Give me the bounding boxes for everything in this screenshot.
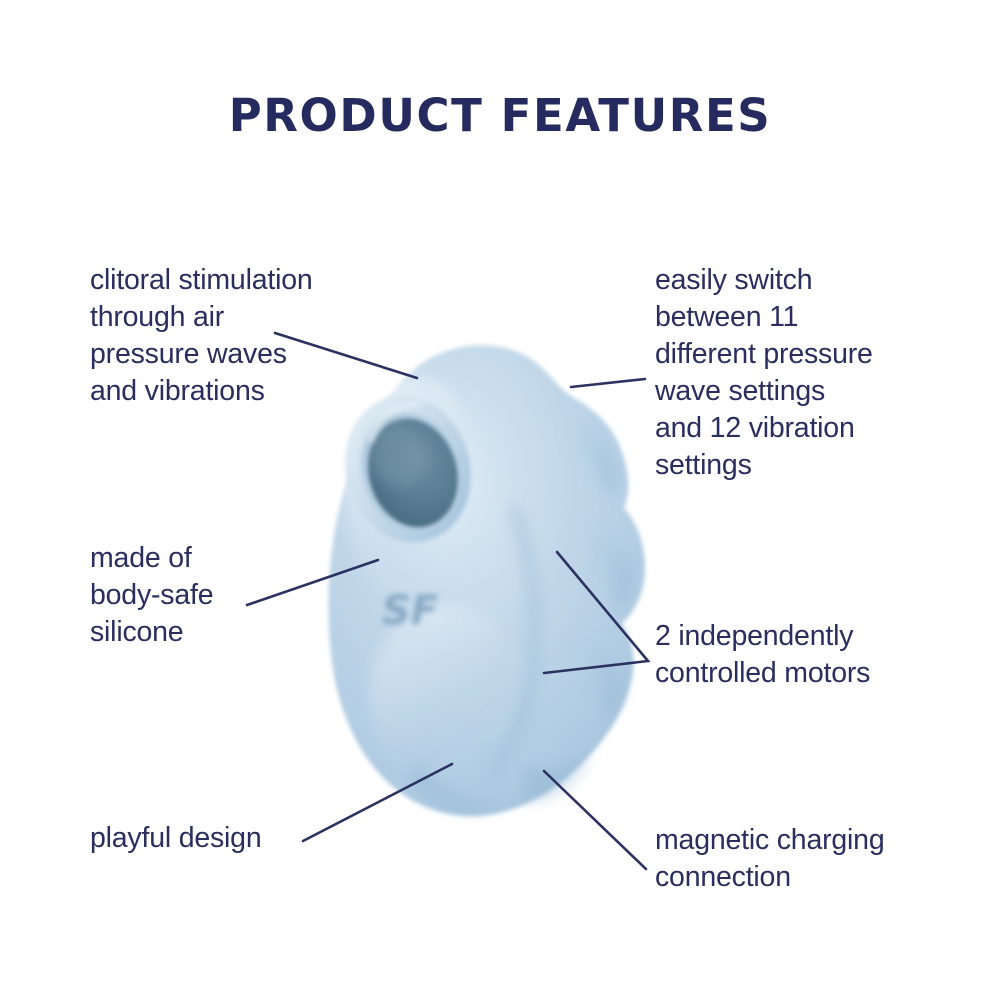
callout-line: body-safe <box>90 577 213 614</box>
callout-line: different pressure <box>655 336 873 373</box>
callout-line: easily switch <box>655 262 873 299</box>
clitoral-stimulation-callout: clitoral stimulation through air pressur… <box>90 262 313 410</box>
callout-line: and vibrations <box>90 373 313 410</box>
independent-motors-callout: 2 independently controlled motors <box>655 618 870 692</box>
callout-line: made of <box>90 540 213 577</box>
callout-line: controlled motors <box>655 655 870 692</box>
callout-line: through air <box>90 299 313 336</box>
playful-design-callout: playful design <box>90 820 261 857</box>
body-safe-silicone-callout: made of body-safe silicone <box>90 540 213 651</box>
callout-line: connection <box>655 859 885 896</box>
product-illustration: SF <box>318 336 663 848</box>
page-title: PRODUCT FEATURES <box>0 92 1000 139</box>
callout-line: magnetic charging <box>655 822 885 859</box>
magnetic-charging-callout: magnetic charging connection <box>655 822 885 896</box>
pressure-wave-settings-callout: easily switch between 11 different press… <box>655 262 873 484</box>
callout-line: 2 independently <box>655 618 870 655</box>
product-features-infographic: PRODUCT FEATURES <box>0 0 1000 1000</box>
callout-line: settings <box>655 447 873 484</box>
callout-line: silicone <box>90 614 213 651</box>
sf-logo-mark: SF <box>382 588 438 634</box>
callout-line: pressure waves <box>90 336 313 373</box>
product-image: SF <box>318 336 663 848</box>
callout-line: clitoral stimulation <box>90 262 313 299</box>
callout-line: and 12 vibration <box>655 410 873 447</box>
callout-line: playful design <box>90 820 261 857</box>
callout-line: wave settings <box>655 373 873 410</box>
svg-text:SF: SF <box>382 588 438 634</box>
callout-line: between 11 <box>655 299 873 336</box>
